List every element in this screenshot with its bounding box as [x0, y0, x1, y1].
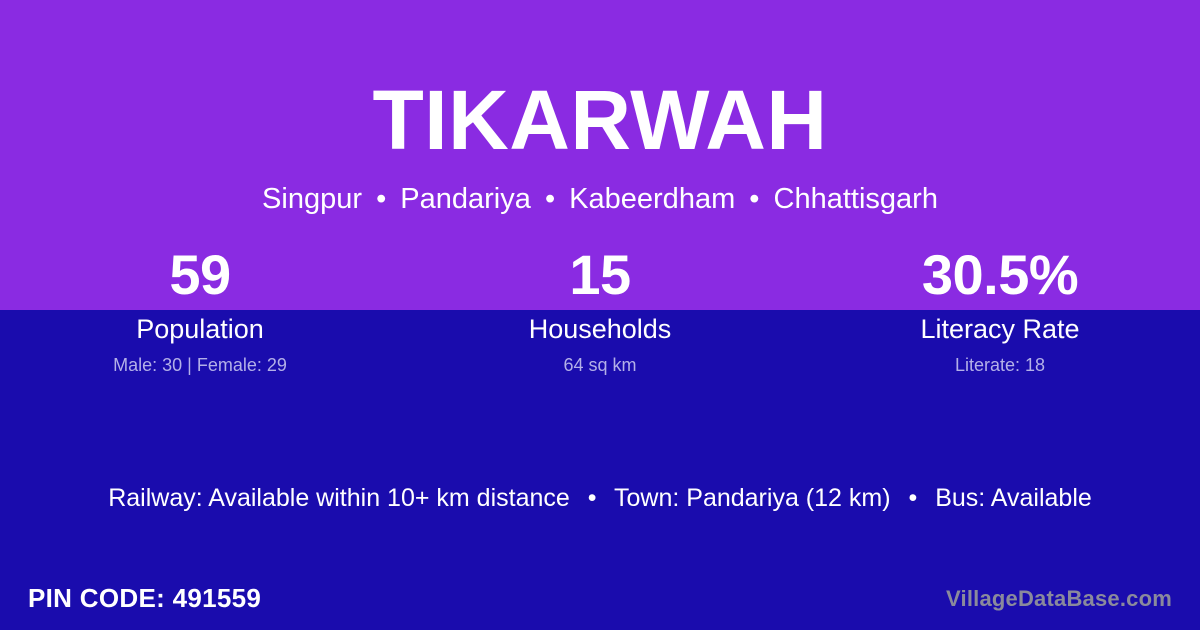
breadcrumb-separator: •	[539, 183, 561, 215]
stat-subtext: Male: 30 | Female: 29	[0, 356, 400, 376]
breadcrumb-item-block: Pandariya	[400, 183, 531, 215]
stats-row: 59 Population Male: 30 | Female: 29 15 H…	[0, 240, 1200, 390]
breadcrumb-item-district: Kabeerdham	[569, 183, 735, 215]
transport-info-line: Railway: Available within 10+ km distanc…	[0, 483, 1200, 513]
village-info-card: TIKARWAH Singpur • Pandariya • Kabeerdha…	[0, 0, 1200, 630]
card-header: TIKARWAH Singpur • Pandariya • Kabeerdha…	[0, 0, 1200, 240]
breadcrumb: Singpur • Pandariya • Kabeerdham • Chhat…	[0, 162, 1200, 214]
breadcrumb-item-village: Singpur	[262, 183, 362, 215]
stat-literacy-rate: 30.5% Literacy Rate Literate: 18	[800, 240, 1200, 390]
info-item-bus: Bus: Available	[935, 484, 1092, 512]
info-item-railway: Railway: Available within 10+ km distanc…	[108, 484, 570, 512]
breadcrumb-item-state: Chhattisgarh	[774, 183, 938, 215]
breadcrumb-separator: •	[370, 183, 392, 215]
stat-label: Households	[400, 315, 800, 345]
info-separator: •	[897, 484, 928, 512]
pin-code: PIN CODE: 491559	[28, 583, 261, 614]
stat-households: 15 Households 64 sq km	[400, 240, 800, 390]
info-item-town: Town: Pandariya (12 km)	[614, 484, 891, 512]
stat-population: 59 Population Male: 30 | Female: 29	[0, 240, 400, 390]
stat-value: 30.5%	[800, 240, 1200, 310]
site-watermark: VillageDataBase.com	[946, 586, 1172, 612]
stat-subtext: 64 sq km	[400, 356, 800, 376]
stat-label: Literacy Rate	[800, 315, 1200, 345]
info-separator: •	[577, 484, 608, 512]
stat-subtext: Literate: 18	[800, 356, 1200, 376]
stat-value: 15	[400, 240, 800, 310]
page-title: TIKARWAH	[0, 0, 1200, 162]
stat-label: Population	[0, 315, 400, 345]
card-footer: PIN CODE: 491559 VillageDataBase.com	[0, 572, 1200, 630]
breadcrumb-separator: •	[743, 183, 765, 215]
stat-value: 59	[0, 240, 400, 310]
